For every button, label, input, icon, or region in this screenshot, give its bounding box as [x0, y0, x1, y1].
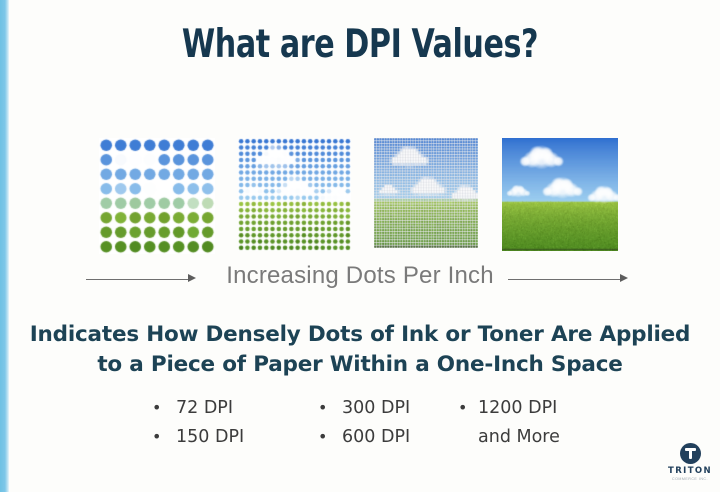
bullet-icon: • [458, 400, 474, 416]
dpi-sample-panels [0, 138, 720, 256]
logo-name: TRITON [668, 466, 712, 476]
increasing-dpi-arrow-row: Increasing Dots Per Inch [0, 262, 720, 296]
list-item-label: and More [474, 427, 560, 447]
arrow-right-line [508, 279, 622, 280]
dpi-panel-lowest [99, 138, 215, 254]
list-item-label: 72 DPI [168, 398, 233, 418]
statement-line-1: Indicates How Densely Dots of Ink or Ton… [30, 322, 691, 347]
bullet-icon: • [152, 400, 168, 416]
diagram-caption: Increasing Dots Per Inch [0, 262, 720, 290]
list-item: • 72 DPI [152, 398, 244, 427]
slide-canvas: What are DPI Values? Increasing Dots Per… [0, 0, 720, 492]
statement-line-2: to a Piece of Paper Within a One-Inch Sp… [0, 350, 720, 380]
bullet-icon: • [152, 429, 168, 445]
triton-mark-icon [680, 443, 701, 464]
list-item: • 300 DPI [318, 398, 410, 427]
list-item: • 150 DPI [152, 427, 244, 456]
list-item: • 1200 DPI [458, 398, 560, 427]
triton-logo: TRITON COMMERCE INC. [668, 443, 712, 485]
list-item: • 600 DPI [318, 427, 410, 456]
statement-text: Indicates How Densely Dots of Ink or Ton… [0, 320, 720, 380]
list-item-label: 150 DPI [168, 427, 244, 447]
list-item-label: 300 DPI [334, 398, 410, 418]
dpi-list-column-2: • 300 DPI • 600 DPI [318, 398, 410, 456]
dpi-value-list: • 72 DPI • 150 DPI • 300 DPI • 600 DPI •… [0, 398, 720, 456]
dpi-list-column-1: • 72 DPI • 150 DPI [152, 398, 244, 456]
page-title: What are DPI Values? [50, 22, 669, 67]
logo-subtext: COMMERCE INC. [668, 477, 712, 481]
bullet-icon: • [318, 429, 334, 445]
list-item-label: 1200 DPI [474, 398, 557, 418]
dpi-panel-high [502, 138, 618, 251]
arrow-right-head-icon [620, 274, 628, 282]
dpi-list-column-3: • 1200 DPI • and More [458, 398, 560, 456]
bullet-icon: • [318, 400, 334, 416]
list-item-label: 600 DPI [334, 427, 410, 447]
dpi-panel-low [238, 138, 351, 251]
list-item: • and More [458, 427, 560, 456]
dpi-panel-medium [374, 138, 478, 248]
